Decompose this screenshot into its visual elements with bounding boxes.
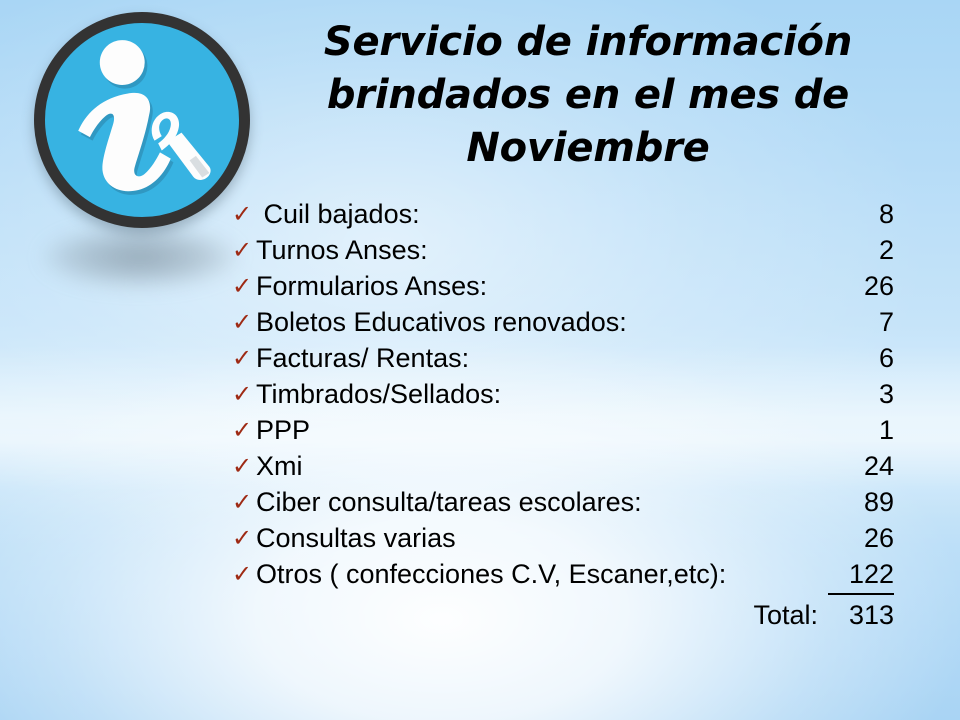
list-item: ✓ Ciber consulta/tareas escolares: 89 [232,484,894,520]
check-icon: ✓ [232,306,256,338]
list-item-value: 7 [828,304,894,340]
list-item-value: 3 [828,376,894,412]
slide: Servicio de información brindados en el … [0,0,960,720]
check-icon: ✓ [232,234,256,266]
total-label: Total: [753,596,828,634]
list-item-label: Facturas/ Rentas: [256,340,828,376]
list-item-label: PPP [256,412,828,448]
list-item: ✓ Boletos Educativos renovados: 7 [232,304,894,340]
total-row: Total: 313 [232,596,894,634]
list-item: ✓ PPP 1 [232,412,894,448]
list-item-label: Otros ( confecciones C.V, Escaner,etc): [256,556,828,592]
check-icon: ✓ [232,486,256,518]
list-item-value: 89 [828,484,894,520]
check-icon: ✓ [232,342,256,374]
list-item: ✓ Cuil bajados: 8 [232,196,894,232]
list-item-label: Ciber consulta/tareas escolares: [256,484,828,520]
list-item: ✓ Xmi 24 [232,448,894,484]
list-item-value: 26 [828,520,894,556]
list-item: ✓ Turnos Anses: 2 [232,232,894,268]
list-item-value: 6 [828,340,894,376]
check-icon: ✓ [232,522,256,554]
logo-container [28,8,254,298]
list-item-label: Turnos Anses: [256,232,828,268]
information-logo-icon [34,12,250,228]
check-icon: ✓ [232,450,256,482]
list-item-value: 26 [828,268,894,304]
list-item-value: 24 [828,448,894,484]
list-item-label: Cuil bajados: [256,196,828,232]
list-item: ✓ Otros ( confecciones C.V, Escaner,etc)… [232,556,894,592]
list-item-value: 122 [828,556,894,595]
list-item-label: Consultas varias [256,520,828,556]
list-item: ✓ Timbrados/Sellados: 3 [232,376,894,412]
list-item: ✓ Consultas varias 26 [232,520,894,556]
page-title: Servicio de información brindados en el … [268,16,908,175]
list-item-value: 2 [828,232,894,268]
list-item-label: Boletos Educativos renovados: [256,304,828,340]
total-value: 313 [828,596,894,634]
check-icon: ✓ [232,378,256,410]
check-icon: ✓ [232,270,256,302]
logo-drop-shadow [42,226,238,288]
check-icon: ✓ [232,198,256,230]
list-item: ✓ Facturas/ Rentas: 6 [232,340,894,376]
services-list: ✓ Cuil bajados: 8 ✓ Turnos Anses: 2 ✓ Fo… [232,196,894,634]
list-item-value: 8 [828,196,894,232]
list-item: ✓ Formularios Anses: 26 [232,268,894,304]
list-item-label: Formularios Anses: [256,268,828,304]
check-icon: ✓ [232,414,256,446]
list-item-value: 1 [828,412,894,448]
list-item-label: Xmi [256,448,828,484]
list-item-label: Timbrados/Sellados: [256,376,828,412]
check-icon: ✓ [232,558,256,590]
